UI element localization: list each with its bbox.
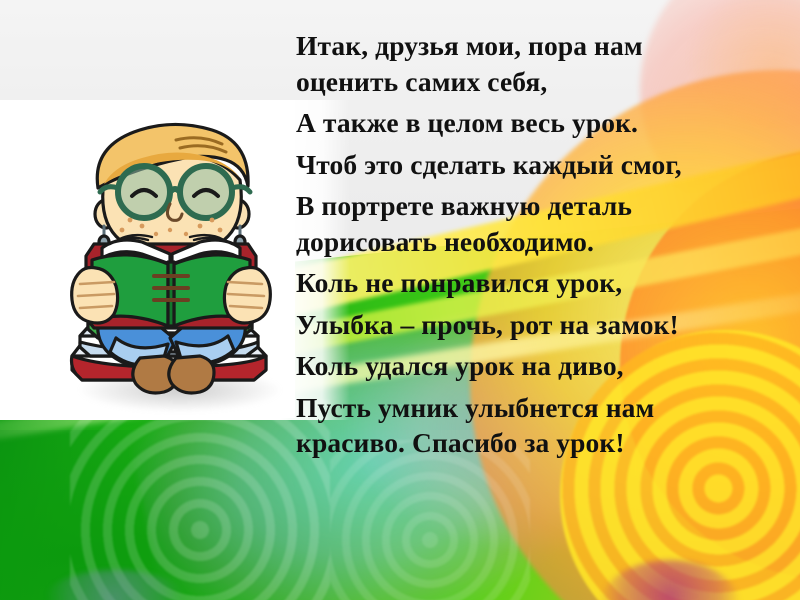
poem-line: Пусть умник улыбнется нам (296, 390, 796, 426)
boy-reading-illustration (58, 104, 283, 404)
poem-line: Коль не понравился урок, (296, 265, 796, 301)
poem-line: красиво. Спасибо за урок! (296, 425, 796, 461)
poem-line: оценить самих себя, (296, 64, 796, 100)
poem-line: Итак, друзья мои, пора нам (296, 28, 796, 64)
poem-line: Улыбка – прочь, рот на замок! (296, 307, 796, 343)
poem-text-block: Итак, друзья мои, пора нам оценить самих… (296, 28, 796, 461)
poem-line: Чтоб это сделать каждый смог, (296, 147, 796, 183)
poem-line: дорисовать необходимо. (296, 224, 796, 260)
poem-line: А также в целом весь урок. (296, 105, 796, 141)
poem-line: В портрете важную деталь (296, 188, 796, 224)
background-concentric-rings-middle (330, 440, 530, 600)
boy-head (95, 124, 250, 256)
poem-line: Коль удался урок на диво, (296, 348, 796, 384)
slide: Итак, друзья мои, пора нам оценить самих… (0, 0, 800, 600)
